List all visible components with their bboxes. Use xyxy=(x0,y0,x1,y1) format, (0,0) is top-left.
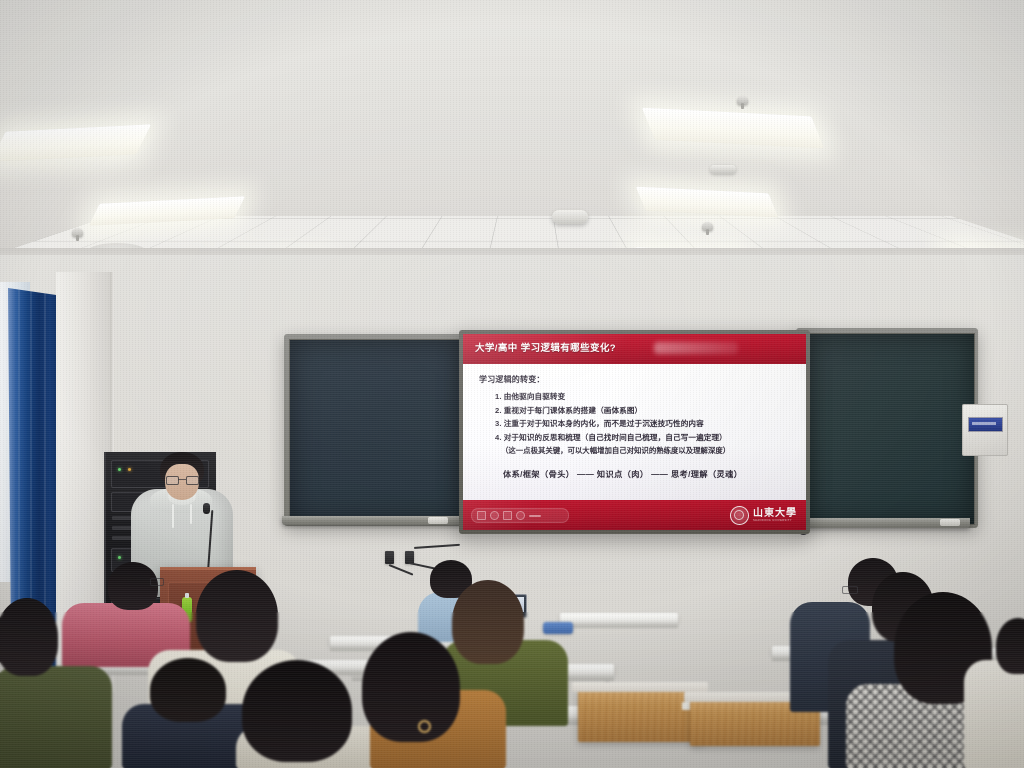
university-logo-subtext: SHANDONG UNIVERSITY xyxy=(753,519,797,522)
ceiling-speaker xyxy=(552,210,588,224)
menu-button[interactable] xyxy=(529,515,541,517)
hood-drawstring xyxy=(172,504,174,528)
student-hair xyxy=(362,632,460,742)
right-chalkboard-tray xyxy=(794,518,970,528)
slide-note-text: （这一点极其关键，可以大幅增加自己对知识的熟练度以及理解深度） xyxy=(501,445,792,456)
wall-outlet xyxy=(385,551,394,564)
student-hair xyxy=(150,658,226,722)
presentation-toolbar[interactable] xyxy=(471,508,569,523)
presenter-glasses xyxy=(166,476,198,483)
slide-title-bar: 大学/高中 学习逻辑有哪些变化? xyxy=(463,334,806,364)
sprinkler-head xyxy=(737,96,748,105)
university-seal-icon xyxy=(730,506,749,525)
student-glasses xyxy=(150,578,164,586)
left-chalkboard-tray xyxy=(282,516,462,525)
student-torso xyxy=(0,666,112,768)
presentation-slide[interactable]: 大学/高中 学习逻辑有哪些变化? 学习逻辑的转变： 1. 由他驱向自驱转变 2.… xyxy=(463,334,806,530)
left-chalkboard xyxy=(284,334,470,526)
left-chalkboard-surface xyxy=(289,339,467,523)
university-logo: 山東大學 SHANDONG UNIVERSITY xyxy=(730,506,797,525)
hood-drawstring xyxy=(190,504,192,524)
projector-glare xyxy=(654,342,738,354)
slide-bullet-1: 1. 由他驱向自驱转变 xyxy=(495,391,792,402)
slide-lead-text: 学习逻辑的转变： xyxy=(479,374,792,385)
jacket-button xyxy=(418,720,431,733)
slide-bullet-4: 4. 对于知识的反思和梳理（自己找时间自己梳理，自己写一遍定理） xyxy=(495,432,792,443)
wooden-desk-top xyxy=(572,682,708,692)
student-hair xyxy=(452,580,524,664)
slide-bullet-2: 2. 重视对于每门课体系的搭建（画体系图） xyxy=(495,405,792,416)
sprinkler-head xyxy=(72,228,83,237)
room-control-panel[interactable] xyxy=(962,404,1008,456)
slide-bullet-list: 1. 由他驱向自驱转变 2. 重视对于每门课体系的搭建（画体系图） 3. 注重于… xyxy=(479,391,792,443)
university-logo-text: 山東大學 xyxy=(753,509,797,519)
pen-button[interactable] xyxy=(477,511,486,520)
student-hair xyxy=(0,598,58,676)
student-hair xyxy=(196,570,278,662)
sprinkler-head xyxy=(702,222,713,231)
eraser-button[interactable] xyxy=(490,511,499,520)
right-chalkboard xyxy=(796,328,978,528)
play-button[interactable] xyxy=(516,511,525,520)
classroom-photo: 大学/高中 学习逻辑有哪些变化? 学习逻辑的转变： 1. 由他驱向自驱转变 2.… xyxy=(0,0,1024,768)
student-torso xyxy=(964,660,1024,768)
slide-footer-bar: 山東大學 SHANDONG UNIVERSITY xyxy=(463,500,806,530)
slide-chain-text: 体系/框架（骨头） —— 知识点（肉） —— 思考/理解（灵魂） xyxy=(503,468,792,480)
student-glasses xyxy=(842,586,858,594)
interactive-whiteboard-screen[interactable]: 大学/高中 学习逻辑有哪些变化? 学习逻辑的转变： 1. 由他驱向自驱转变 2.… xyxy=(459,330,810,534)
slide-title: 大学/高中 学习逻辑有哪些变化? xyxy=(475,340,616,354)
smoke-detector xyxy=(710,165,736,174)
pointer-button[interactable] xyxy=(503,511,512,520)
microphone-head xyxy=(203,503,210,514)
slide-body: 学习逻辑的转变： 1. 由他驱向自驱转变 2. 重视对于每门课体系的搭建（画体系… xyxy=(463,364,806,500)
right-chalkboard-surface xyxy=(801,333,975,525)
slide-bullet-3: 3. 注重于对于知识本身的内化，而不是过于沉迷技巧性的内容 xyxy=(495,418,792,429)
desk-edge xyxy=(560,623,678,628)
pencil-case xyxy=(543,622,573,634)
control-panel-display xyxy=(968,417,1003,432)
suspended-ceiling xyxy=(0,0,1024,262)
student-hair xyxy=(108,562,158,610)
desk-row xyxy=(560,613,678,623)
student-hair xyxy=(242,660,352,762)
